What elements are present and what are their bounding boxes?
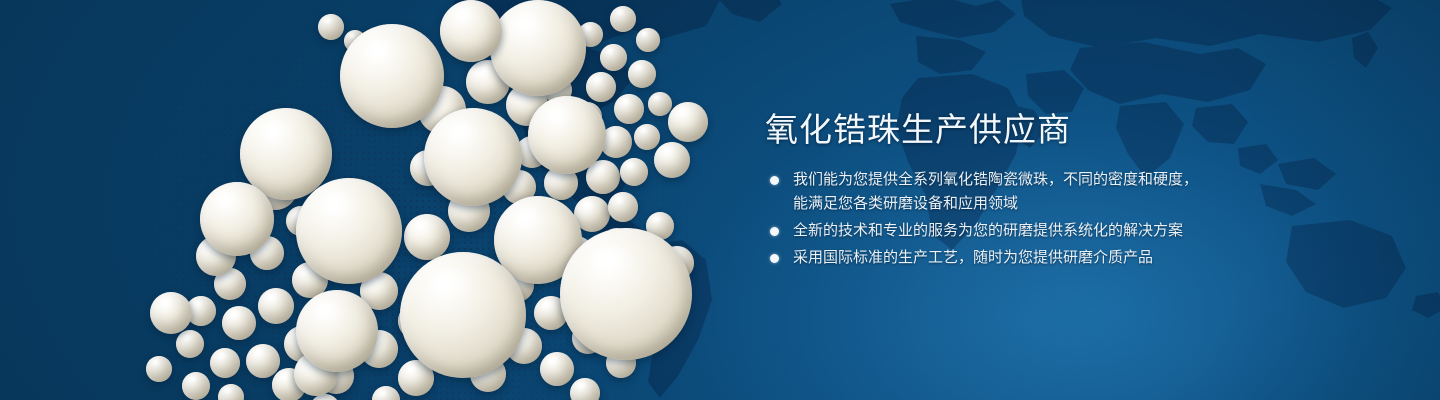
bullet-dot-icon (770, 176, 779, 185)
banner-feature-list: 我们能为您提供全系列氧化锆陶瓷微珠，不同的密度和硬度， 能满足您各类研磨设备和应… (765, 168, 1235, 273)
bullet-dot-icon (770, 227, 779, 236)
feature-item-line2: 能满足您各类研磨设备和应用领域 (793, 192, 1235, 216)
feature-item-line1: 我们能为您提供全系列氧化锆陶瓷微珠，不同的密度和硬度， (793, 171, 1198, 188)
hero-banner: 氧化锆珠生产供应商 我们能为您提供全系列氧化锆陶瓷微珠，不同的密度和硬度， 能满… (0, 0, 1440, 400)
feature-list-item: 全新的技术和专业的服务为您的研磨提供系统化的解决方案 (765, 219, 1235, 243)
banner-content: 氧化锆珠生产供应商 我们能为您提供全系列氧化锆陶瓷微珠，不同的密度和硬度， 能满… (765, 0, 1365, 400)
banner-title: 氧化锆珠生产供应商 (765, 110, 1071, 150)
feature-item-line1: 全新的技术和专业的服务为您的研磨提供系统化的解决方案 (793, 222, 1183, 239)
feature-list-item: 我们能为您提供全系列氧化锆陶瓷微珠，不同的密度和硬度， 能满足您各类研磨设备和应… (765, 168, 1235, 216)
bullet-dot-icon (770, 254, 779, 263)
feature-list-item: 采用国际标准的生产工艺，随时为您提供研磨介质产品 (765, 246, 1235, 270)
feature-item-line1: 采用国际标准的生产工艺，随时为您提供研磨介质产品 (793, 249, 1153, 266)
